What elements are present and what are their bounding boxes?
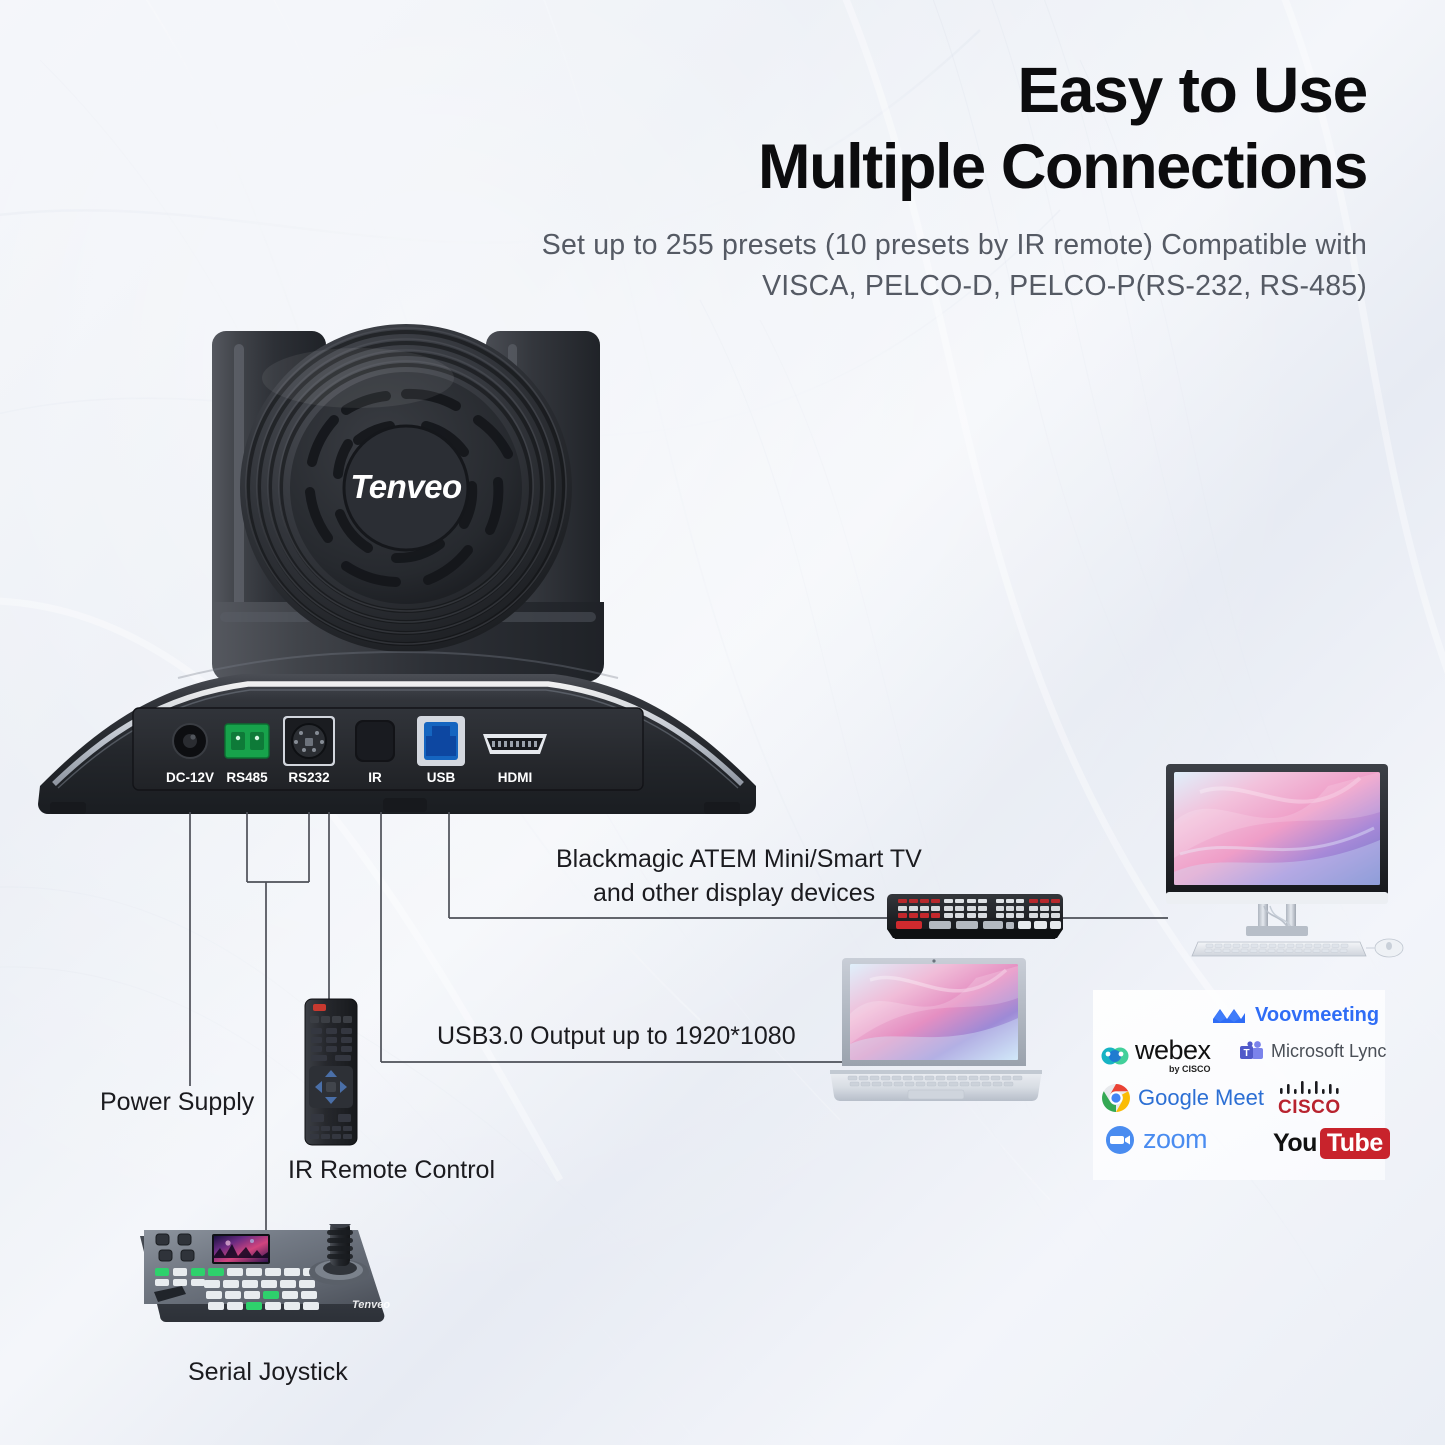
cisco-label: CISCO	[1278, 1097, 1341, 1119]
app-voovmeeting: Voovmeeting	[1211, 1004, 1379, 1027]
compatible-apps-panel: Voovmeeting webex by CISCO T	[1093, 990, 1385, 1180]
youtube-label-you: You	[1273, 1129, 1317, 1158]
laptop	[826, 952, 1046, 1117]
desktop-monitor-group	[1160, 762, 1422, 962]
webex-sublabel: by CISCO	[1135, 1065, 1211, 1074]
voovmeeting-icon	[1211, 1005, 1247, 1027]
zoom-label: zoom	[1143, 1124, 1207, 1155]
atem-mini-switcher	[884, 886, 1066, 948]
voovmeeting-label: Voovmeeting	[1255, 1004, 1379, 1027]
label-hdmi-line1: Blackmagic ATEM Mini/Smart TV	[556, 845, 922, 874]
label-ir-remote: IR Remote Control	[288, 1156, 495, 1185]
webex-label: webex	[1135, 1035, 1211, 1065]
serial-joystick-controller: Tenveo	[124, 1224, 396, 1348]
webex-icon	[1101, 1044, 1129, 1068]
app-microsoft-lync: T Microsoft Lync	[1239, 1040, 1386, 1062]
cisco-bars-icon	[1278, 1080, 1340, 1096]
joystick-brand-label: Tenveo	[352, 1299, 390, 1311]
google-meet-label: Google Meet	[1138, 1085, 1264, 1111]
microsoft-teams-icon: T	[1239, 1040, 1265, 1062]
app-google-meet: Google Meet	[1101, 1083, 1264, 1113]
label-power-supply: Power Supply	[100, 1088, 254, 1117]
app-cisco: CISCO	[1278, 1080, 1341, 1119]
app-zoom: zoom	[1105, 1124, 1207, 1155]
app-webex: webex by CISCO	[1101, 1037, 1211, 1074]
label-serial-joystick: Serial Joystick	[188, 1358, 348, 1387]
ir-remote-control	[303, 998, 359, 1146]
label-hdmi-line2: and other display devices	[593, 879, 875, 908]
infographic-canvas: Easy to Use Multiple Connections Set up …	[0, 0, 1445, 1445]
chrome-icon	[1101, 1083, 1131, 1113]
app-youtube: You Tube	[1273, 1128, 1390, 1159]
svg-text:T: T	[1243, 1048, 1249, 1059]
youtube-label-tube: Tube	[1327, 1129, 1383, 1157]
label-usb-output: USB3.0 Output up to 1920*1080	[437, 1022, 796, 1051]
microsoft-lync-label: Microsoft Lync	[1271, 1041, 1386, 1062]
zoom-icon	[1105, 1125, 1135, 1155]
youtube-label-tube-box: Tube	[1320, 1128, 1390, 1159]
